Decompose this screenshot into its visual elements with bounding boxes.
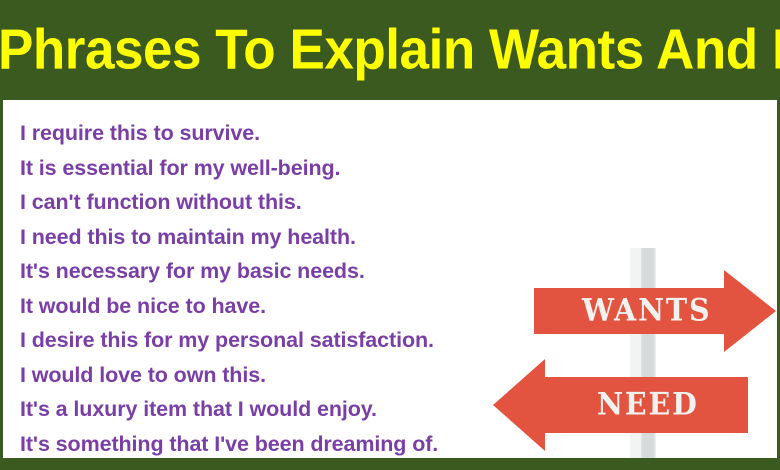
list-item: I require this to survive. [20, 116, 540, 151]
phrase-list: I require this to survive. It is essenti… [20, 116, 540, 458]
signpost-pole [630, 248, 656, 458]
page-title: Phrases To Explain Wants And Needs [0, 22, 780, 79]
list-item: I need this to maintain my health. [20, 220, 540, 255]
wants-sign: WANTS [534, 288, 775, 334]
need-sign-bar [543, 377, 748, 433]
list-item: It's a luxury item that I would enjoy. [20, 392, 540, 427]
list-item: I desire this for my personal satisfacti… [20, 323, 540, 358]
content-area: I require this to survive. It is essenti… [0, 100, 780, 458]
need-sign-label: NEED [597, 390, 699, 421]
list-item: It's something that I've been dreaming o… [20, 427, 540, 459]
wants-sign-label: WANTS [582, 296, 711, 327]
list-item: It would be nice to have. [20, 289, 540, 324]
list-item: It's necessary for my basic needs. [20, 254, 540, 289]
infographic-page: Phrases To Explain Wants And Needs I req… [0, 0, 780, 470]
footer-band [0, 458, 780, 470]
list-item: I can't function without this. [20, 185, 540, 220]
arrow-right-icon [724, 270, 776, 352]
list-item: It is essential for my well-being. [20, 151, 540, 186]
wants-sign-bar [534, 288, 726, 334]
header-band: Phrases To Explain Wants And Needs [0, 0, 780, 100]
list-item: I would love to own this. [20, 358, 540, 393]
